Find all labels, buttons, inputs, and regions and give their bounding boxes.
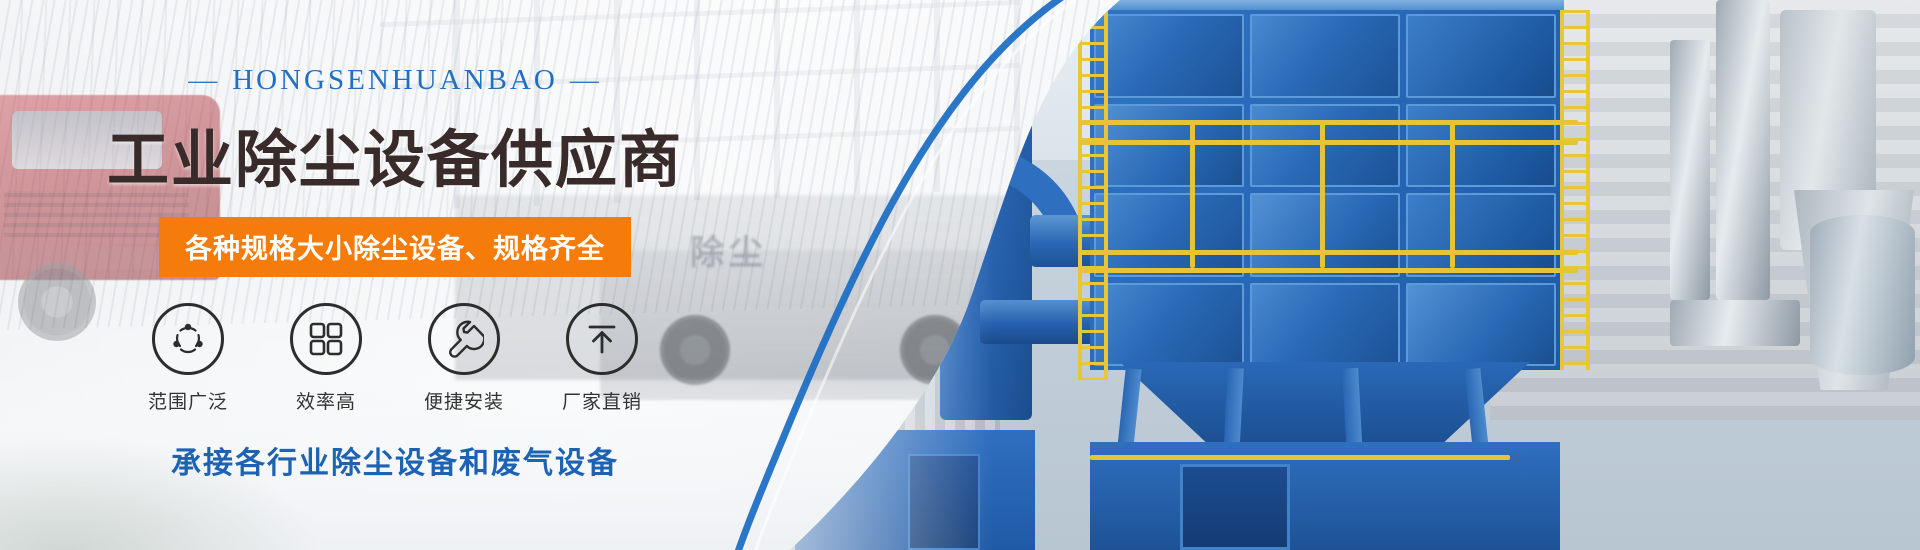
- bottom-tagline: 承接各行业除尘设备和废气设备: [0, 438, 790, 482]
- silo-door: [908, 454, 980, 550]
- yellow-handrail: [1078, 120, 1578, 125]
- grid-squares-icon: [307, 320, 345, 358]
- feature-icon-circle: [566, 303, 638, 375]
- yellow-rail-post: [1320, 120, 1325, 268]
- feature-icon-circle: [428, 303, 500, 375]
- yellow-rail-post: [1190, 120, 1195, 268]
- eyebrow-text: HONGSENHUANBAO: [232, 64, 558, 96]
- feature-label: 便捷安装: [424, 387, 504, 414]
- yellow-handrail-lower: [1090, 455, 1510, 460]
- wrench-icon: [444, 319, 484, 359]
- arrow-up-bar-icon: [583, 320, 621, 358]
- yellow-handrail: [1078, 140, 1578, 145]
- baghouse-cell: [1250, 104, 1400, 188]
- baghouse-cell: [1094, 14, 1244, 98]
- feature-icon-circle: [152, 303, 224, 375]
- baghouse-cell: [1406, 193, 1556, 277]
- feature-label: 厂家直销: [562, 387, 642, 414]
- silver-duct: [1670, 40, 1710, 300]
- baghouse-cell: [1094, 193, 1244, 277]
- banner-content: —HONGSENHUANBAO— 工业除尘设备供应商 各种规格大小除尘设备、规格…: [0, 0, 790, 550]
- subtitle-ribbon: 各种规格大小除尘设备、规格齐全: [159, 217, 631, 277]
- dash-right: —: [558, 64, 614, 96]
- feature-list: 范围广泛 效率高: [0, 303, 790, 414]
- baghouse-cell: [1250, 283, 1400, 367]
- feature-item-installation[interactable]: 便捷安装: [424, 303, 504, 414]
- yellow-handrail: [1078, 250, 1578, 255]
- ribbon-wrapper: 各种规格大小除尘设备、规格齐全: [0, 217, 790, 277]
- silver-duct-horizontal: [1670, 300, 1800, 346]
- feature-item-factory-direct[interactable]: 厂家直销: [562, 303, 642, 414]
- feature-label: 效率高: [286, 387, 366, 414]
- right-cyclone-cylinder: [1810, 215, 1915, 375]
- feature-item-range[interactable]: 范围广泛: [148, 303, 228, 414]
- baghouse-cell: [1250, 14, 1400, 98]
- eyebrow-tagline: —HONGSENHUANBAO—: [0, 64, 790, 97]
- yellow-handrail: [1078, 268, 1578, 273]
- baghouse-cell: [1406, 283, 1556, 367]
- baghouse-cell: [1406, 14, 1556, 98]
- baghouse-cell: [1094, 104, 1244, 188]
- page-title: 工业除尘设备供应商: [0, 109, 790, 199]
- feature-item-efficiency[interactable]: 效率高: [286, 303, 366, 414]
- baghouse-cell: [1406, 104, 1556, 188]
- yellow-ladder: [1560, 10, 1590, 370]
- baghouse-cell: [1094, 283, 1244, 367]
- hero-banner: 除尘: [0, 0, 1920, 550]
- network-nodes-icon: [168, 319, 208, 359]
- silver-duct: [1716, 0, 1770, 300]
- dash-left: —: [176, 64, 232, 96]
- feature-label: 范围广泛: [148, 387, 228, 414]
- baghouse-module-array: [1090, 10, 1560, 370]
- feature-icon-circle: [290, 303, 362, 375]
- access-door: [1180, 464, 1290, 550]
- yellow-rail-post: [1450, 120, 1455, 268]
- baghouse-cell: [1250, 193, 1400, 277]
- yellow-ladder: [1078, 10, 1108, 380]
